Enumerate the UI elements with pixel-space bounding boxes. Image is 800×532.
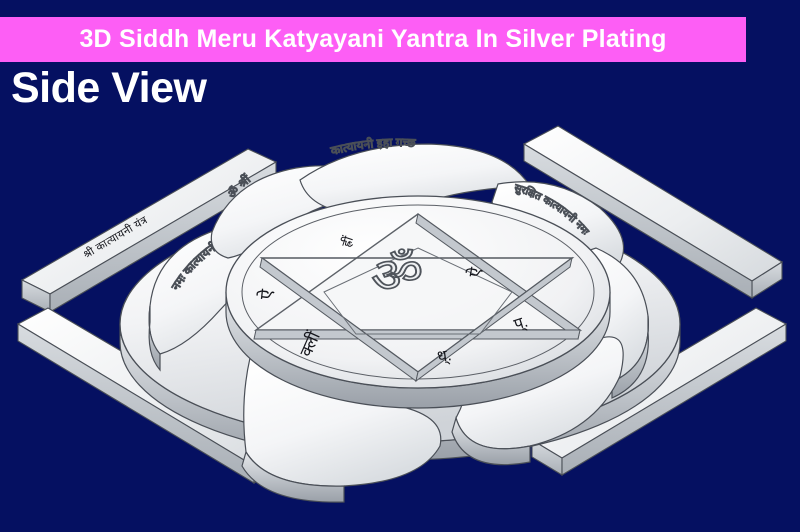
screenshot-canvas: 3D Siddh Meru Katyayani Yantra In Silver…: [0, 0, 800, 532]
title-banner: 3D Siddh Meru Katyayani Yantra In Silver…: [0, 17, 746, 62]
glyph-lower-right: ध्.: [436, 347, 453, 367]
page-title: 3D Siddh Meru Katyayani Yantra In Silver…: [79, 27, 666, 52]
yantra-illustration: श्री कात्यायनी यंत्र श्री: [0, 62, 800, 532]
svg-text:ॐ: ॐ: [367, 242, 428, 305]
om-symbol: ॐ: [367, 242, 428, 305]
top-background-strip: [0, 0, 800, 17]
yantra-svg: श्री कात्यायनी यंत्र श्री: [0, 62, 800, 532]
